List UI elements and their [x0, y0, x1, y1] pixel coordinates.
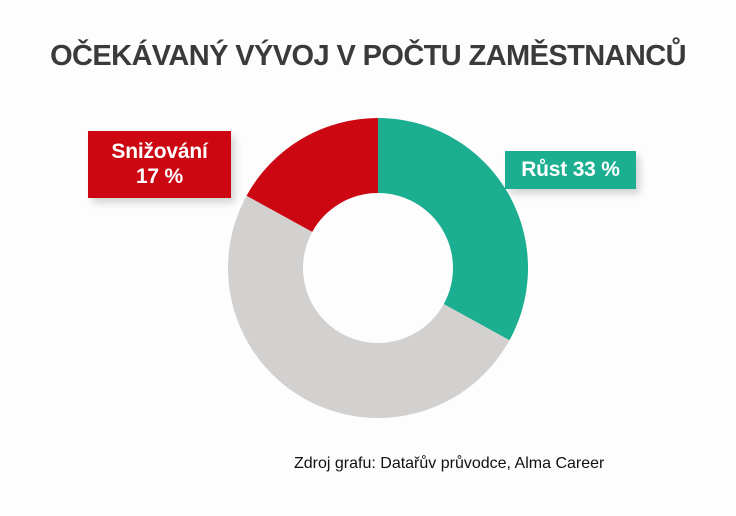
donut-slice-group — [228, 118, 528, 418]
donut-chart-svg — [228, 118, 528, 418]
callout-label-decline: Snižování 17 % — [88, 131, 231, 198]
callout-label-growth: Růst 33 % — [505, 151, 636, 189]
source-caption: Zdroj grafu: Datařův průvodce, Alma Care… — [294, 455, 604, 473]
callout-decline-value: 17 % — [136, 165, 183, 190]
callout-decline-category: Snižování — [111, 140, 207, 165]
donut-chart — [228, 118, 528, 418]
chart-title: OČEKÁVANÝ VÝVOJ V POČTU ZAMĚSTNANCŮ — [0, 40, 736, 73]
chart-canvas: OČEKÁVANÝ VÝVOJ V POČTU ZAMĚSTNANCŮ Sniž… — [0, 0, 736, 516]
callout-growth-text: Růst 33 % — [521, 158, 620, 183]
